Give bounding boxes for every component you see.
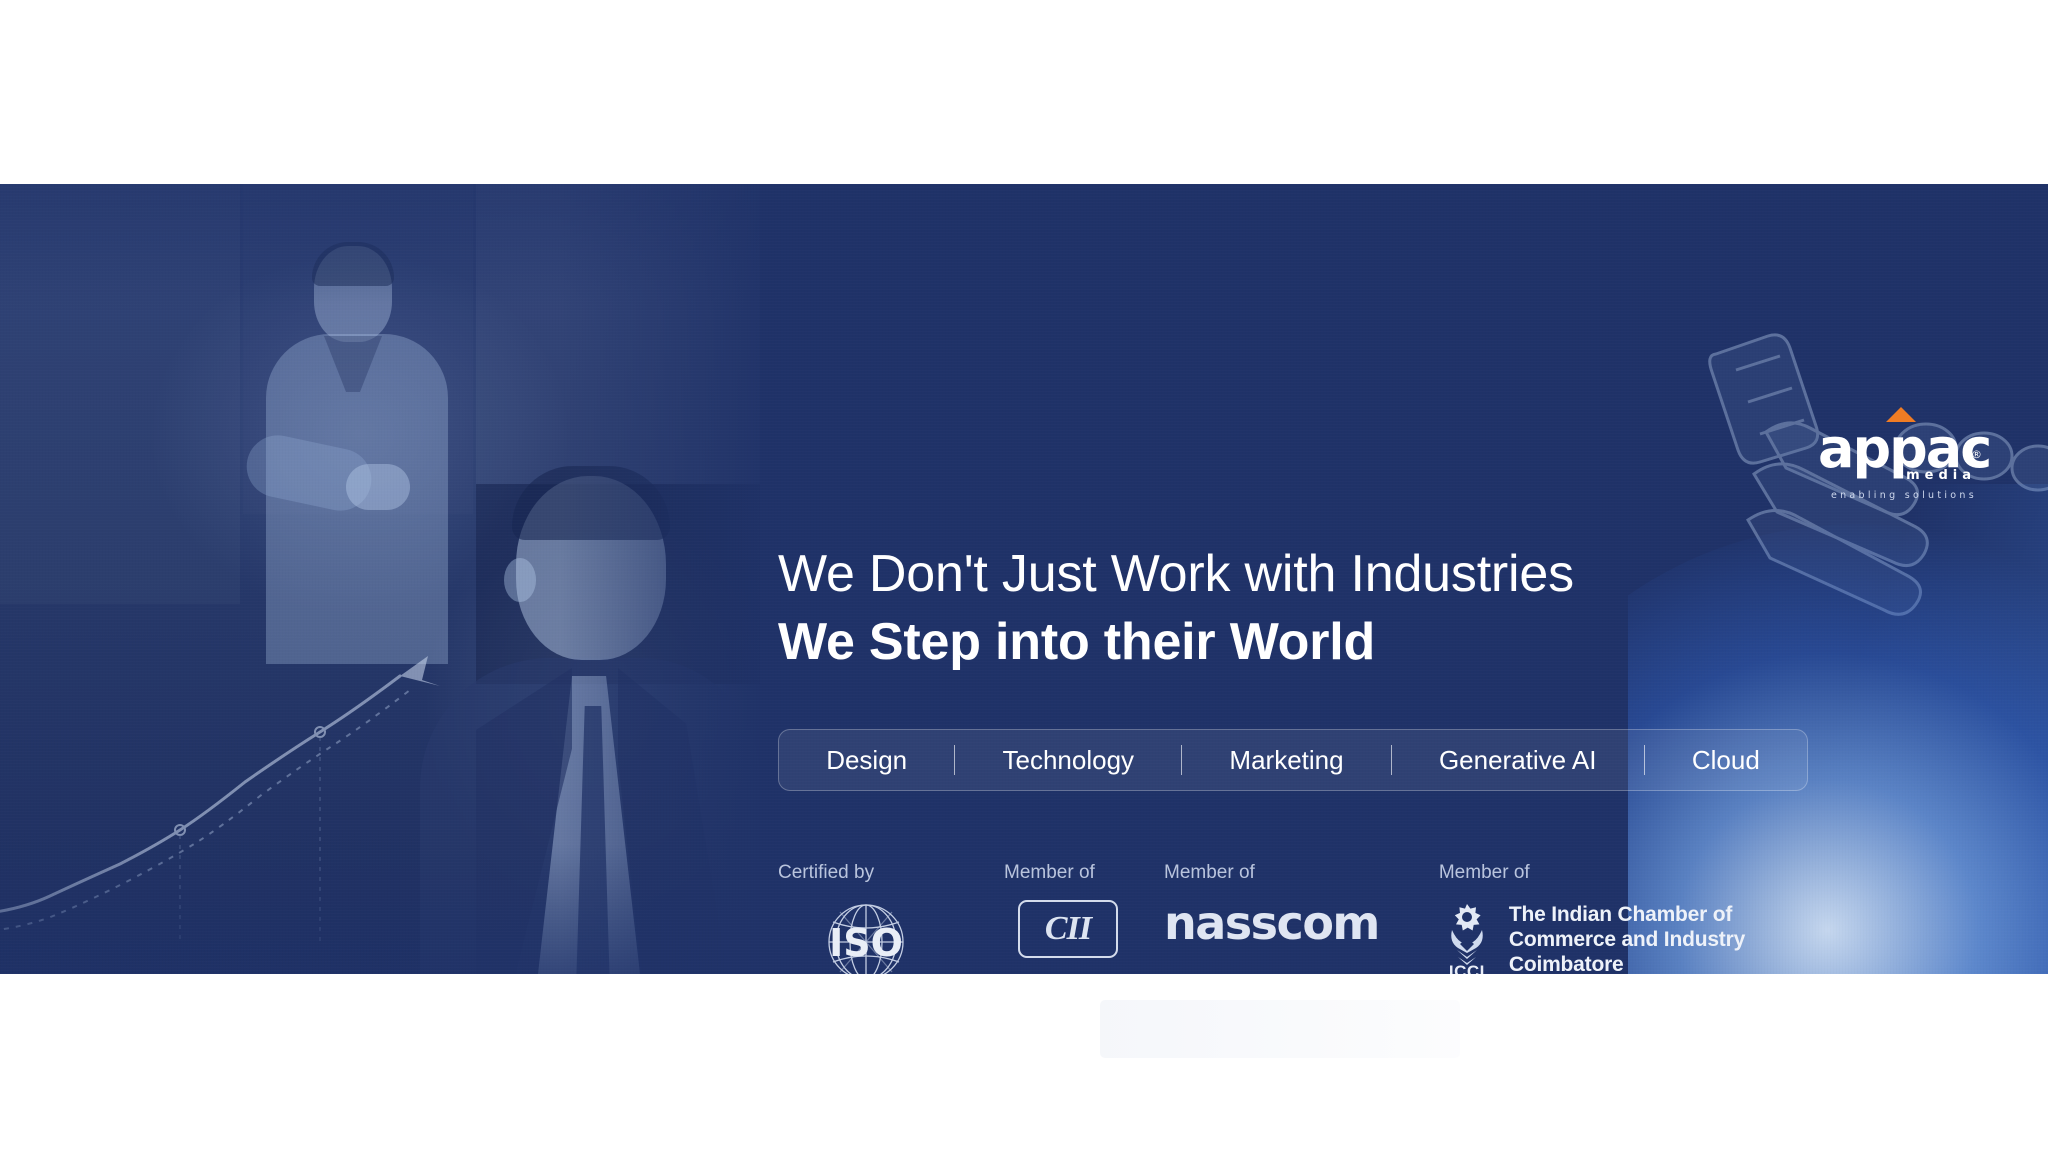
icci-abbreviation: ICCI xyxy=(1439,962,1495,974)
credential-label: Member of xyxy=(1164,862,1379,884)
cii-wordmark: CII xyxy=(1045,910,1091,948)
globe-icon: ISO xyxy=(806,900,926,974)
iso-logo: ISO 9001:2015 xyxy=(806,900,926,974)
icci-name-line-3: Coimbatore xyxy=(1509,952,1799,974)
service-divider xyxy=(1644,745,1645,775)
hero-banner: appac ® media enabling solutions We Don'… xyxy=(0,184,2048,974)
appac-media-logo[interactable]: appac ® media enabling solutions xyxy=(1818,422,1978,508)
iso-wordmark: ISO xyxy=(829,921,903,965)
service-divider xyxy=(1391,745,1392,775)
background-wall-panel xyxy=(0,184,240,604)
service-item-design[interactable]: Design xyxy=(820,745,913,776)
credential-cii: Member of CII xyxy=(1004,862,1118,958)
service-divider xyxy=(1181,745,1182,775)
gear-hands-wheat-icon xyxy=(1439,900,1495,970)
icci-logo: ICCI COIMBATORE The Indian Chamber of Co… xyxy=(1439,900,1799,974)
icci-name-block: The Indian Chamber of Commerce and Indus… xyxy=(1509,900,1799,974)
service-item-marketing[interactable]: Marketing xyxy=(1223,745,1349,776)
credential-iso: Certified by ISO xyxy=(778,862,926,974)
service-divider xyxy=(954,745,955,775)
background-wall-panel xyxy=(476,184,760,484)
service-item-cloud[interactable]: Cloud xyxy=(1686,745,1766,776)
nasscom-wordmark: nasscom xyxy=(1164,900,1379,946)
headline-line-1: We Don't Just Work with Industries xyxy=(778,542,1574,606)
credentials-row: Certified by ISO xyxy=(778,862,1799,974)
headline-line-2: We Step into their World xyxy=(778,610,1574,674)
icci-emblem: ICCI COIMBATORE xyxy=(1439,900,1495,974)
cii-logo: CII xyxy=(1018,900,1118,958)
diamond-accent-icon xyxy=(1886,407,1916,422)
icci-name-line-2: Commerce and Industry xyxy=(1509,927,1799,952)
credential-label: Member of xyxy=(1004,862,1118,884)
service-item-generative-ai[interactable]: Generative AI xyxy=(1433,745,1603,776)
services-pill-bar: Design Technology Marketing Generative A… xyxy=(778,729,1808,791)
brand-sub-text: media xyxy=(1906,468,1976,483)
below-banner-content xyxy=(1100,1000,1460,1058)
credential-label: Member of xyxy=(1439,862,1799,884)
credential-icci: Member of xyxy=(1439,862,1799,974)
growth-graph-icon xyxy=(0,614,660,944)
credential-label: Certified by xyxy=(778,862,926,884)
page-root: appac ® media enabling solutions We Don'… xyxy=(0,0,2048,1151)
brand-tagline: enabling solutions xyxy=(1831,490,1977,501)
icci-name-line-1: The Indian Chamber of xyxy=(1509,902,1799,927)
credential-nasscom: Member of nasscom xyxy=(1164,862,1379,946)
hero-photo-right xyxy=(1628,184,2048,974)
hero-headline: We Don't Just Work with Industries We St… xyxy=(778,542,1574,674)
service-item-technology[interactable]: Technology xyxy=(997,745,1141,776)
